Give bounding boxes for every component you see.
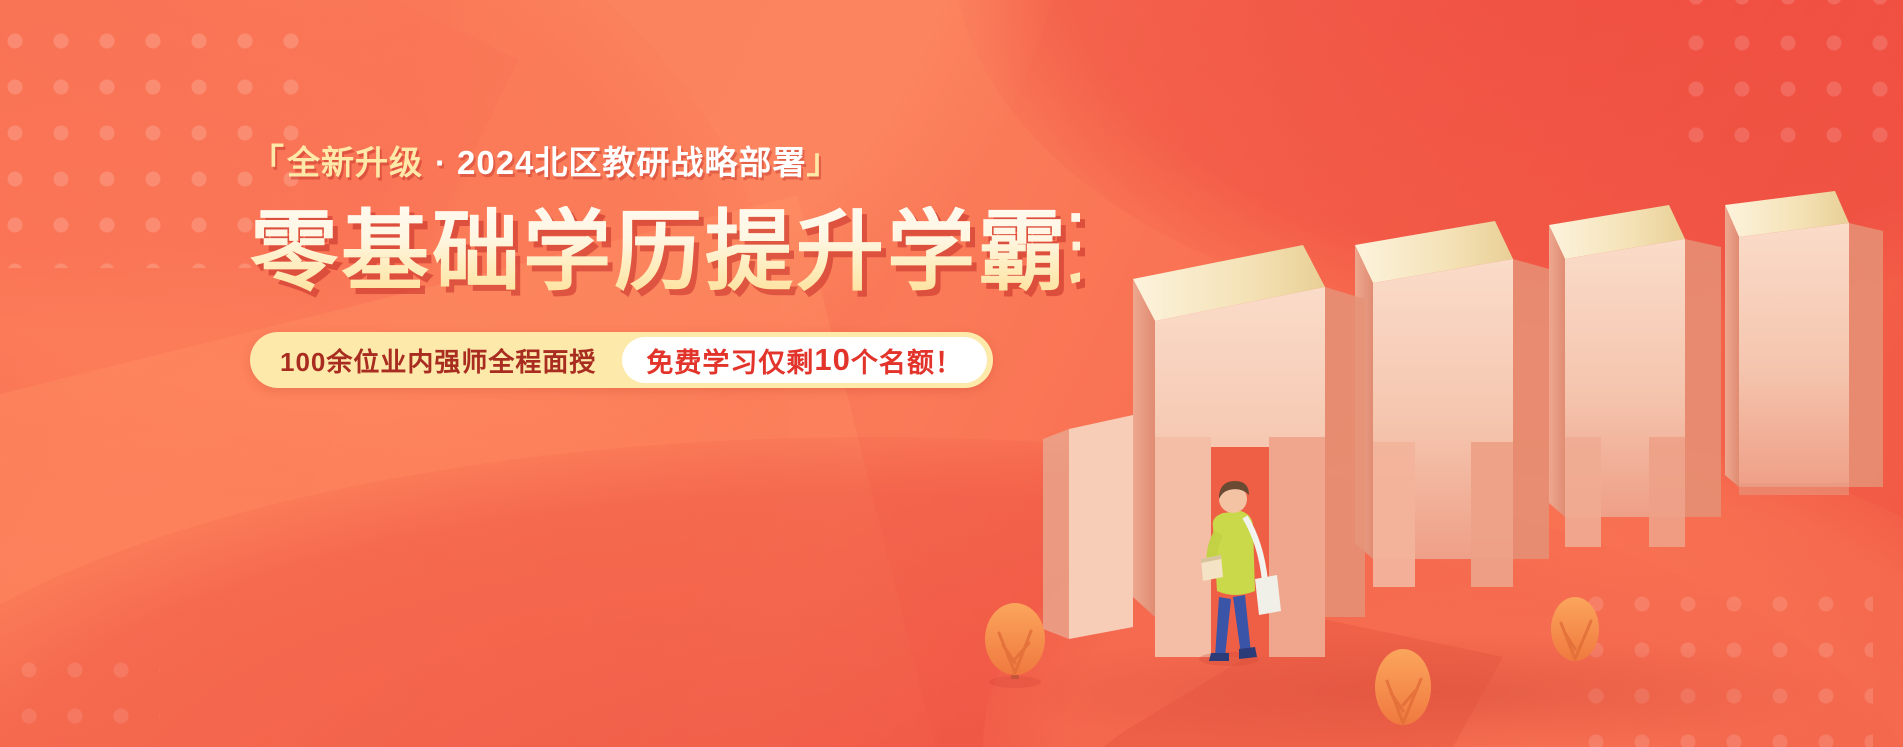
badge-left-label: 100余位业内强师全程面授 bbox=[280, 342, 622, 379]
subtitle-rest: 2024北区教研战略部署 bbox=[457, 146, 806, 179]
badge-remaining-count: 10 bbox=[814, 342, 850, 378]
badge-right-suffix: 个名额！ bbox=[851, 341, 963, 380]
book-arch-3 bbox=[1549, 205, 1721, 547]
subtitle-highlight: 全新升级 bbox=[287, 146, 423, 179]
book-arch-1 bbox=[1043, 245, 1365, 657]
badge-right-capsule: 免费学习仅剩10个名额！ bbox=[622, 337, 986, 383]
tree-far-right bbox=[1551, 597, 1599, 661]
dot-pattern-top-right bbox=[1673, 0, 1903, 164]
badge-right-prefix: 免费学习仅剩 bbox=[646, 341, 814, 380]
banner-headline: 零基础学历提升学霸班 bbox=[250, 206, 1080, 298]
book-arch-4 bbox=[1725, 191, 1883, 495]
banner-badge: 100余位业内强师全程面授 免费学习仅剩10个名额！ bbox=[250, 332, 993, 388]
subtitle-separator-icon: · bbox=[435, 146, 447, 179]
book-arch-2 bbox=[1355, 221, 1549, 587]
banner-subtitle: 「 全新升级 · 2024北区教研战略部署 」 bbox=[250, 140, 1080, 184]
dot-pattern-bottom-left bbox=[0, 647, 160, 747]
bracket-open-icon: 「 bbox=[250, 145, 285, 179]
tree-right bbox=[1375, 649, 1431, 725]
banner-text-block: 「 全新升级 · 2024北区教研战略部署 」 零基础学历提升学霸班 100余位… bbox=[250, 140, 1080, 388]
promo-banner: 「 全新升级 · 2024北区教研战略部署 」 零基础学历提升学霸班 100余位… bbox=[0, 0, 1903, 747]
bracket-close-icon: 」 bbox=[806, 145, 841, 179]
